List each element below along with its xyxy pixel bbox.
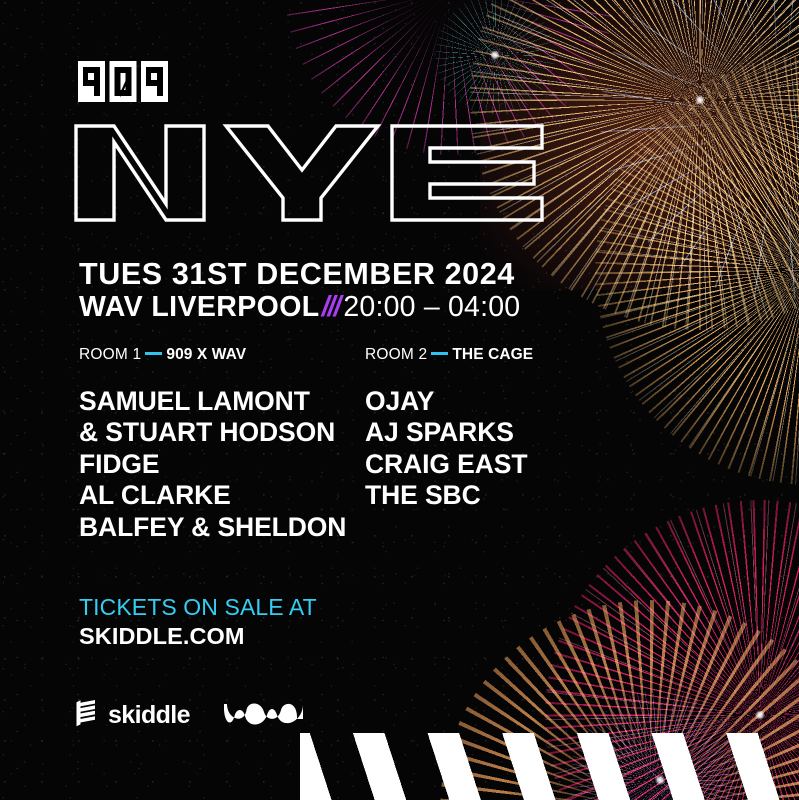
skiddle-logo: skiddle (76, 698, 190, 733)
room-2-lineup: OJAY AJ SPARKS CRAIG EAST THE SBC (365, 386, 533, 512)
artist-name: AJ SPARKS (365, 417, 533, 449)
wav-logo-icon (224, 697, 306, 734)
skiddle-wordmark: skiddle (108, 703, 190, 728)
date-venue-block: TUES 31ST DECEMBER 2024 WAV LIVERPOOL///… (79, 258, 520, 324)
artist-name: AL CLARKE (79, 480, 346, 512)
room-2-name: THE CAGE (452, 346, 533, 363)
artist-name: BALFEY & SHELDON (79, 512, 346, 544)
tickets-url[interactable]: SKIDDLE.COM (79, 623, 317, 651)
room-2-label: ROOM 2 (365, 346, 427, 363)
tickets-block: TICKETS ON SALE AT SKIDDLE.COM (79, 594, 317, 651)
artist-name: THE SBC (365, 480, 533, 512)
artist-name: FIDGE (79, 449, 346, 481)
nye-headline (74, 108, 544, 238)
venue-name: WAV LIVERPOOL (79, 291, 320, 323)
tickets-heading: TICKETS ON SALE AT (79, 594, 317, 621)
nye-event-poster: TUES 31ST DECEMBER 2024 WAV LIVERPOOL///… (0, 0, 799, 800)
artist-name: SAMUEL LAMONT (79, 386, 346, 418)
artist-name: CRAIG EAST (365, 449, 533, 481)
room-1-name: 909 X WAV (166, 346, 246, 363)
poster-content: TUES 31ST DECEMBER 2024 WAV LIVERPOOL///… (0, 0, 799, 800)
artist-name: & STUART HODSON (79, 417, 346, 449)
dash-icon (431, 352, 448, 355)
room-1-lineup: SAMUEL LAMONT & STUART HODSON FIDGE AL C… (79, 386, 346, 544)
event-time: 20:00 – 04:00 (343, 291, 520, 323)
footer-logos: skiddle (76, 697, 306, 734)
909-logo (78, 61, 168, 102)
room-1-heading: ROOM 1909 X WAV (79, 347, 346, 363)
room-column-1: ROOM 1909 X WAV SAMUEL LAMONT & STUART H… (79, 347, 346, 543)
event-date: TUES 31ST DECEMBER 2024 (79, 258, 520, 290)
dash-icon (145, 352, 162, 355)
room-1-label: ROOM 1 (79, 346, 141, 363)
venue-time-line: WAV LIVERPOOL///20:00 – 04:00 (79, 292, 520, 324)
slash-separator-icon: /// (320, 291, 344, 323)
skiddle-mark-icon (76, 698, 101, 733)
room-2-heading: ROOM 2THE CAGE (365, 347, 533, 363)
room-column-2: ROOM 2THE CAGE OJAY AJ SPARKS CRAIG EAST… (365, 347, 533, 512)
artist-name: OJAY (365, 386, 533, 418)
